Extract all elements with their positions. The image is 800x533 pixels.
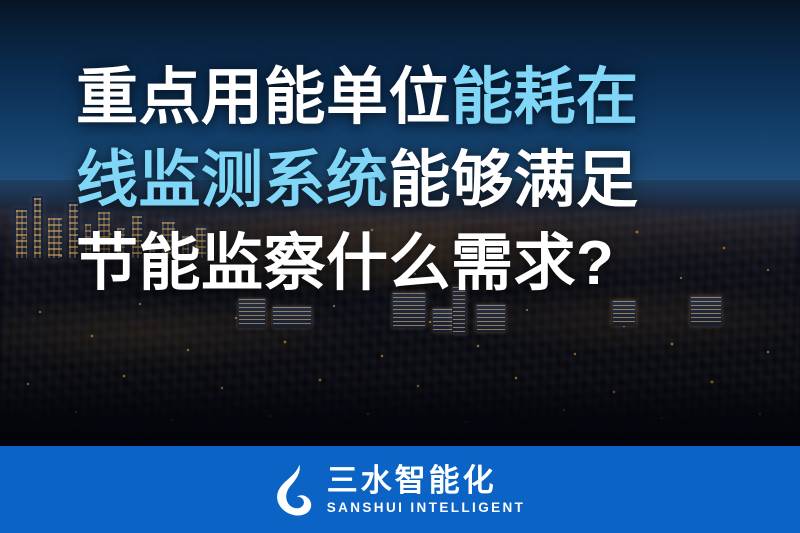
headline-line-3: 节能监察什么需求?	[76, 222, 736, 305]
brand-name-en: SANSHUI INTELLIGENT	[327, 499, 526, 516]
poster-canvas: 重点用能单位能耗在 线监测系统能够满足 节能监察什么需求? 三水智能化 SANS…	[0, 0, 800, 533]
headline-line-1-segment-2: 能耗在	[451, 63, 639, 132]
city-foreground-shadow	[0, 376, 800, 446]
mid-building	[272, 306, 312, 328]
headline: 重点用能单位能耗在 线监测系统能够满足 节能监察什么需求?	[76, 56, 736, 305]
headline-line-3-segment-1: 节能监察什么需求?	[76, 229, 614, 298]
brand-name-cn: 三水智能化	[327, 464, 526, 498]
headline-line-2: 线监测系统能够满足	[76, 139, 736, 222]
headline-line-1-segment-1: 重点用能单位	[76, 63, 451, 132]
headline-line-2-segment-1: 线监测系统	[76, 146, 389, 215]
brand-logo-text: 三水智能化 SANSHUI INTELLIGENT	[327, 464, 526, 516]
headline-line-2-segment-2: 能够满足	[389, 146, 639, 215]
brand-logo[interactable]: 三水智能化 SANSHUI INTELLIGENT	[275, 463, 526, 517]
headline-line-1: 重点用能单位能耗在	[76, 56, 736, 139]
footer-bar: 三水智能化 SANSHUI INTELLIGENT	[0, 446, 800, 533]
mid-building	[476, 304, 506, 332]
flame-droplet-icon	[275, 463, 315, 517]
